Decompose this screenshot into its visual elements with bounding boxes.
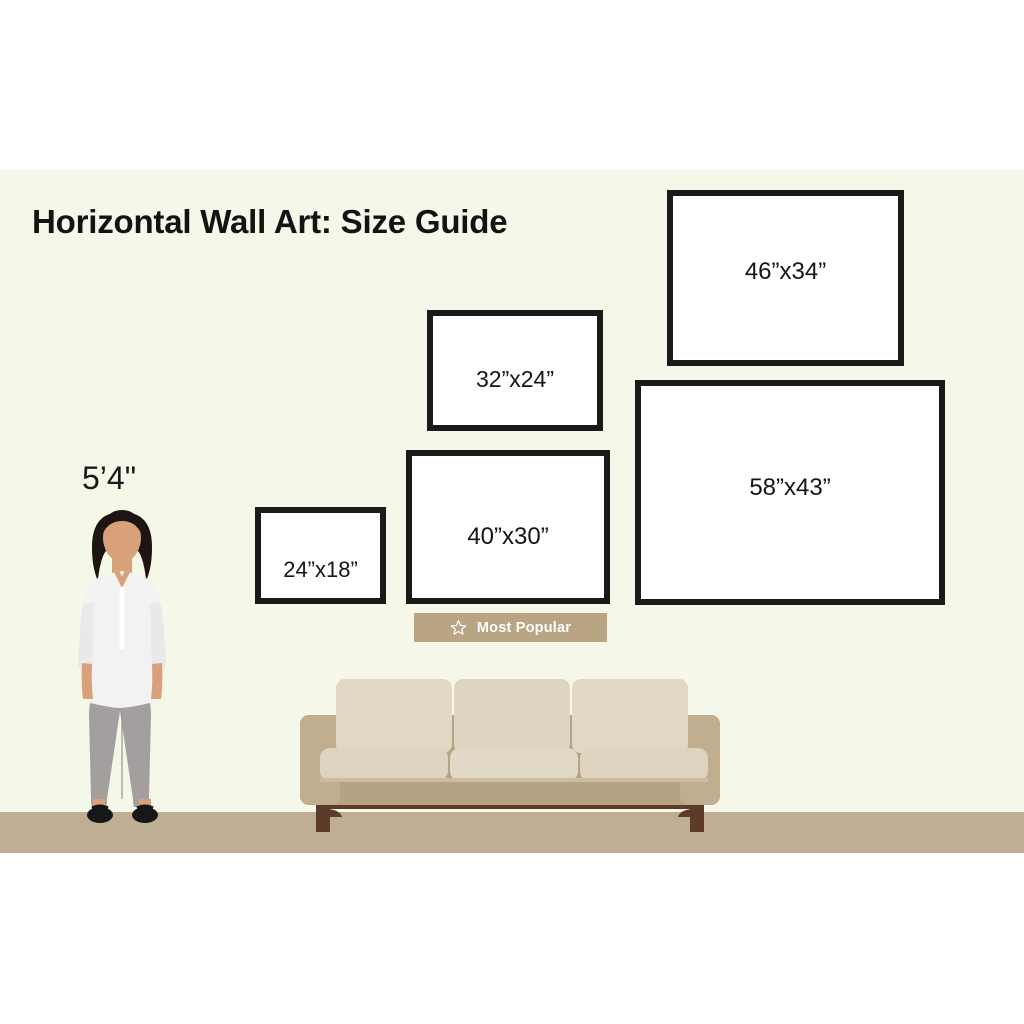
frame-32x24[interactable]: 32”x24”	[427, 310, 603, 431]
size-guide-scene: Horizontal Wall Art: Size Guide 5’4"	[0, 0, 1024, 1024]
person-illustration	[62, 505, 182, 825]
person-figure	[62, 505, 182, 825]
frame-label-40x30: 40”x30”	[467, 523, 548, 551]
frame-label-58x43: 58”x43”	[749, 474, 830, 502]
star-icon	[450, 619, 467, 636]
page-title: Horizontal Wall Art: Size Guide	[32, 203, 507, 241]
frame-label-46x34: 46”x34”	[745, 258, 826, 286]
frame-58x43[interactable]: 58”x43”	[635, 380, 945, 605]
most-popular-label: Most Popular	[477, 620, 571, 636]
person-height-label: 5’4"	[82, 460, 136, 497]
frame-24x18[interactable]: 24”x18”	[255, 507, 386, 604]
most-popular-badge[interactable]: Most Popular	[414, 613, 607, 642]
frame-label-24x18: 24”x18”	[283, 557, 358, 583]
frame-46x34[interactable]: 46”x34”	[667, 190, 904, 366]
frame-40x30[interactable]: 40”x30”	[406, 450, 610, 604]
sofa-svg	[280, 660, 740, 840]
sofa-illustration	[280, 660, 740, 840]
frame-label-32x24: 32”x24”	[476, 366, 554, 393]
